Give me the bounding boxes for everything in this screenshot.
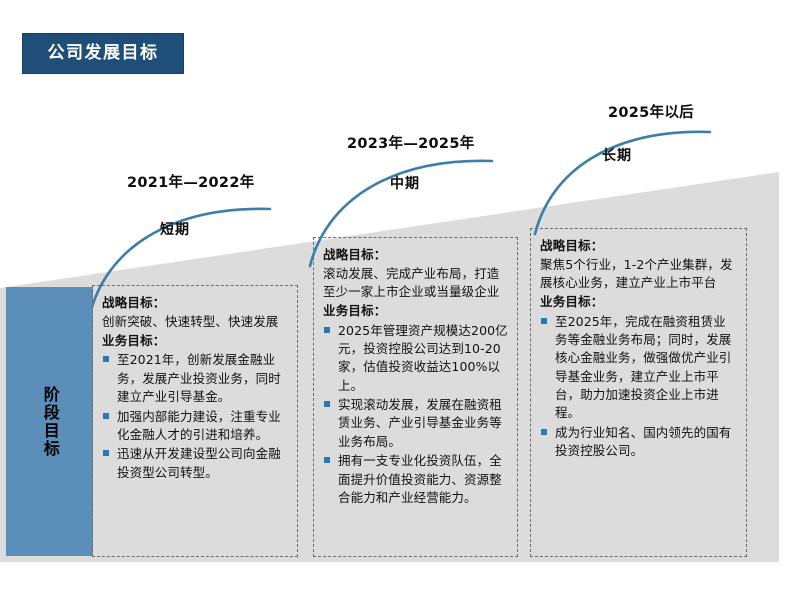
stage-3-period: 2025年以后	[608, 101, 694, 122]
stage-2-content-box: 战略目标： 滚动发展、完成产业布局，打造至少一家上市企业或当量级企业 业务目标：…	[313, 237, 518, 557]
col-1-bullet-list: 至2021年，创新发展金融业务，发展产业投资业务，同时建立产业引导基金。 加强内…	[102, 351, 288, 482]
col-3-bullet-list: 至2025年，完成在融资租赁业务等金融业务布局；同时，发展核心金融业务，做强做优…	[540, 313, 737, 461]
col-2-bullet-list: 2025年管理资产规模达200亿元，投资控股公司达到10-20家，估值投资收益达…	[323, 322, 508, 508]
list-item: 加强内部能力建设，注重专业化金融人才的引进和培养。	[102, 408, 288, 445]
col-1-strategy-heading: 战略目标：	[102, 294, 288, 312]
list-item: 迅速从开发建设型公司向金融投资型公司转型。	[102, 445, 288, 482]
stage-2-period: 2023年—2025年	[347, 132, 475, 153]
col-1-business-heading: 业务目标：	[102, 332, 288, 350]
page-title: 公司发展目标	[22, 33, 184, 74]
stage-goals-panel: 阶段目标	[6, 287, 93, 556]
stage-3-arc-icon	[529, 113, 714, 235]
col-2-strategy-text: 滚动发展、完成产业布局，打造至少一家上市企业或当量级企业	[323, 265, 508, 301]
col-2-business-heading: 业务目标：	[323, 302, 508, 320]
list-item: 成为行业知名、国内领先的国有投资控股公司。	[540, 424, 737, 461]
col-2-strategy-heading: 战略目标：	[323, 246, 508, 264]
col-3-strategy-text: 聚焦5个行业，1-2个产业集群，发展核心业务，建立产业上市平台	[540, 256, 737, 292]
list-item: 至2025年，完成在融资租赁业务等金融业务布局；同时，发展核心金融业务，做强做优…	[540, 313, 737, 423]
stage-1-period: 2021年—2022年	[127, 171, 255, 192]
stage-3-content-box: 战略目标： 聚焦5个行业，1-2个产业集群，发展核心业务，建立产业上市平台 业务…	[530, 228, 747, 557]
stage-goals-label: 阶段目标	[40, 386, 58, 458]
col-1-strategy-text: 创新突破、快速转型、快速发展	[102, 313, 288, 331]
list-item: 实现滚动发展，发展在融资租赁业务、产业引导基金业务等业务布局。	[323, 396, 508, 451]
stage-1-term: 短期	[160, 219, 190, 239]
page-title-text: 公司发展目标	[48, 45, 159, 62]
stage-1-content-box: 战略目标： 创新突破、快速转型、快速发展 业务目标： 至2021年，创新发展金融…	[92, 285, 298, 557]
stage-3-term: 长期	[602, 145, 632, 165]
stage-2-term: 中期	[390, 173, 420, 193]
col-3-business-heading: 业务目标：	[540, 293, 737, 311]
list-item: 2025年管理资产规模达200亿元，投资控股公司达到10-20家，估值投资收益达…	[323, 322, 508, 396]
col-3-strategy-heading: 战略目标：	[540, 237, 737, 255]
list-item: 拥有一支专业化投资队伍，全面提升价值投资能力、资源整合能力和产业经营能力。	[323, 452, 508, 507]
list-item: 至2021年，创新发展金融业务，发展产业投资业务，同时建立产业引导基金。	[102, 351, 288, 406]
slide-canvas: 公司发展目标 2021年—2022年 短期 2023年—2025年 中期 202…	[0, 0, 793, 589]
